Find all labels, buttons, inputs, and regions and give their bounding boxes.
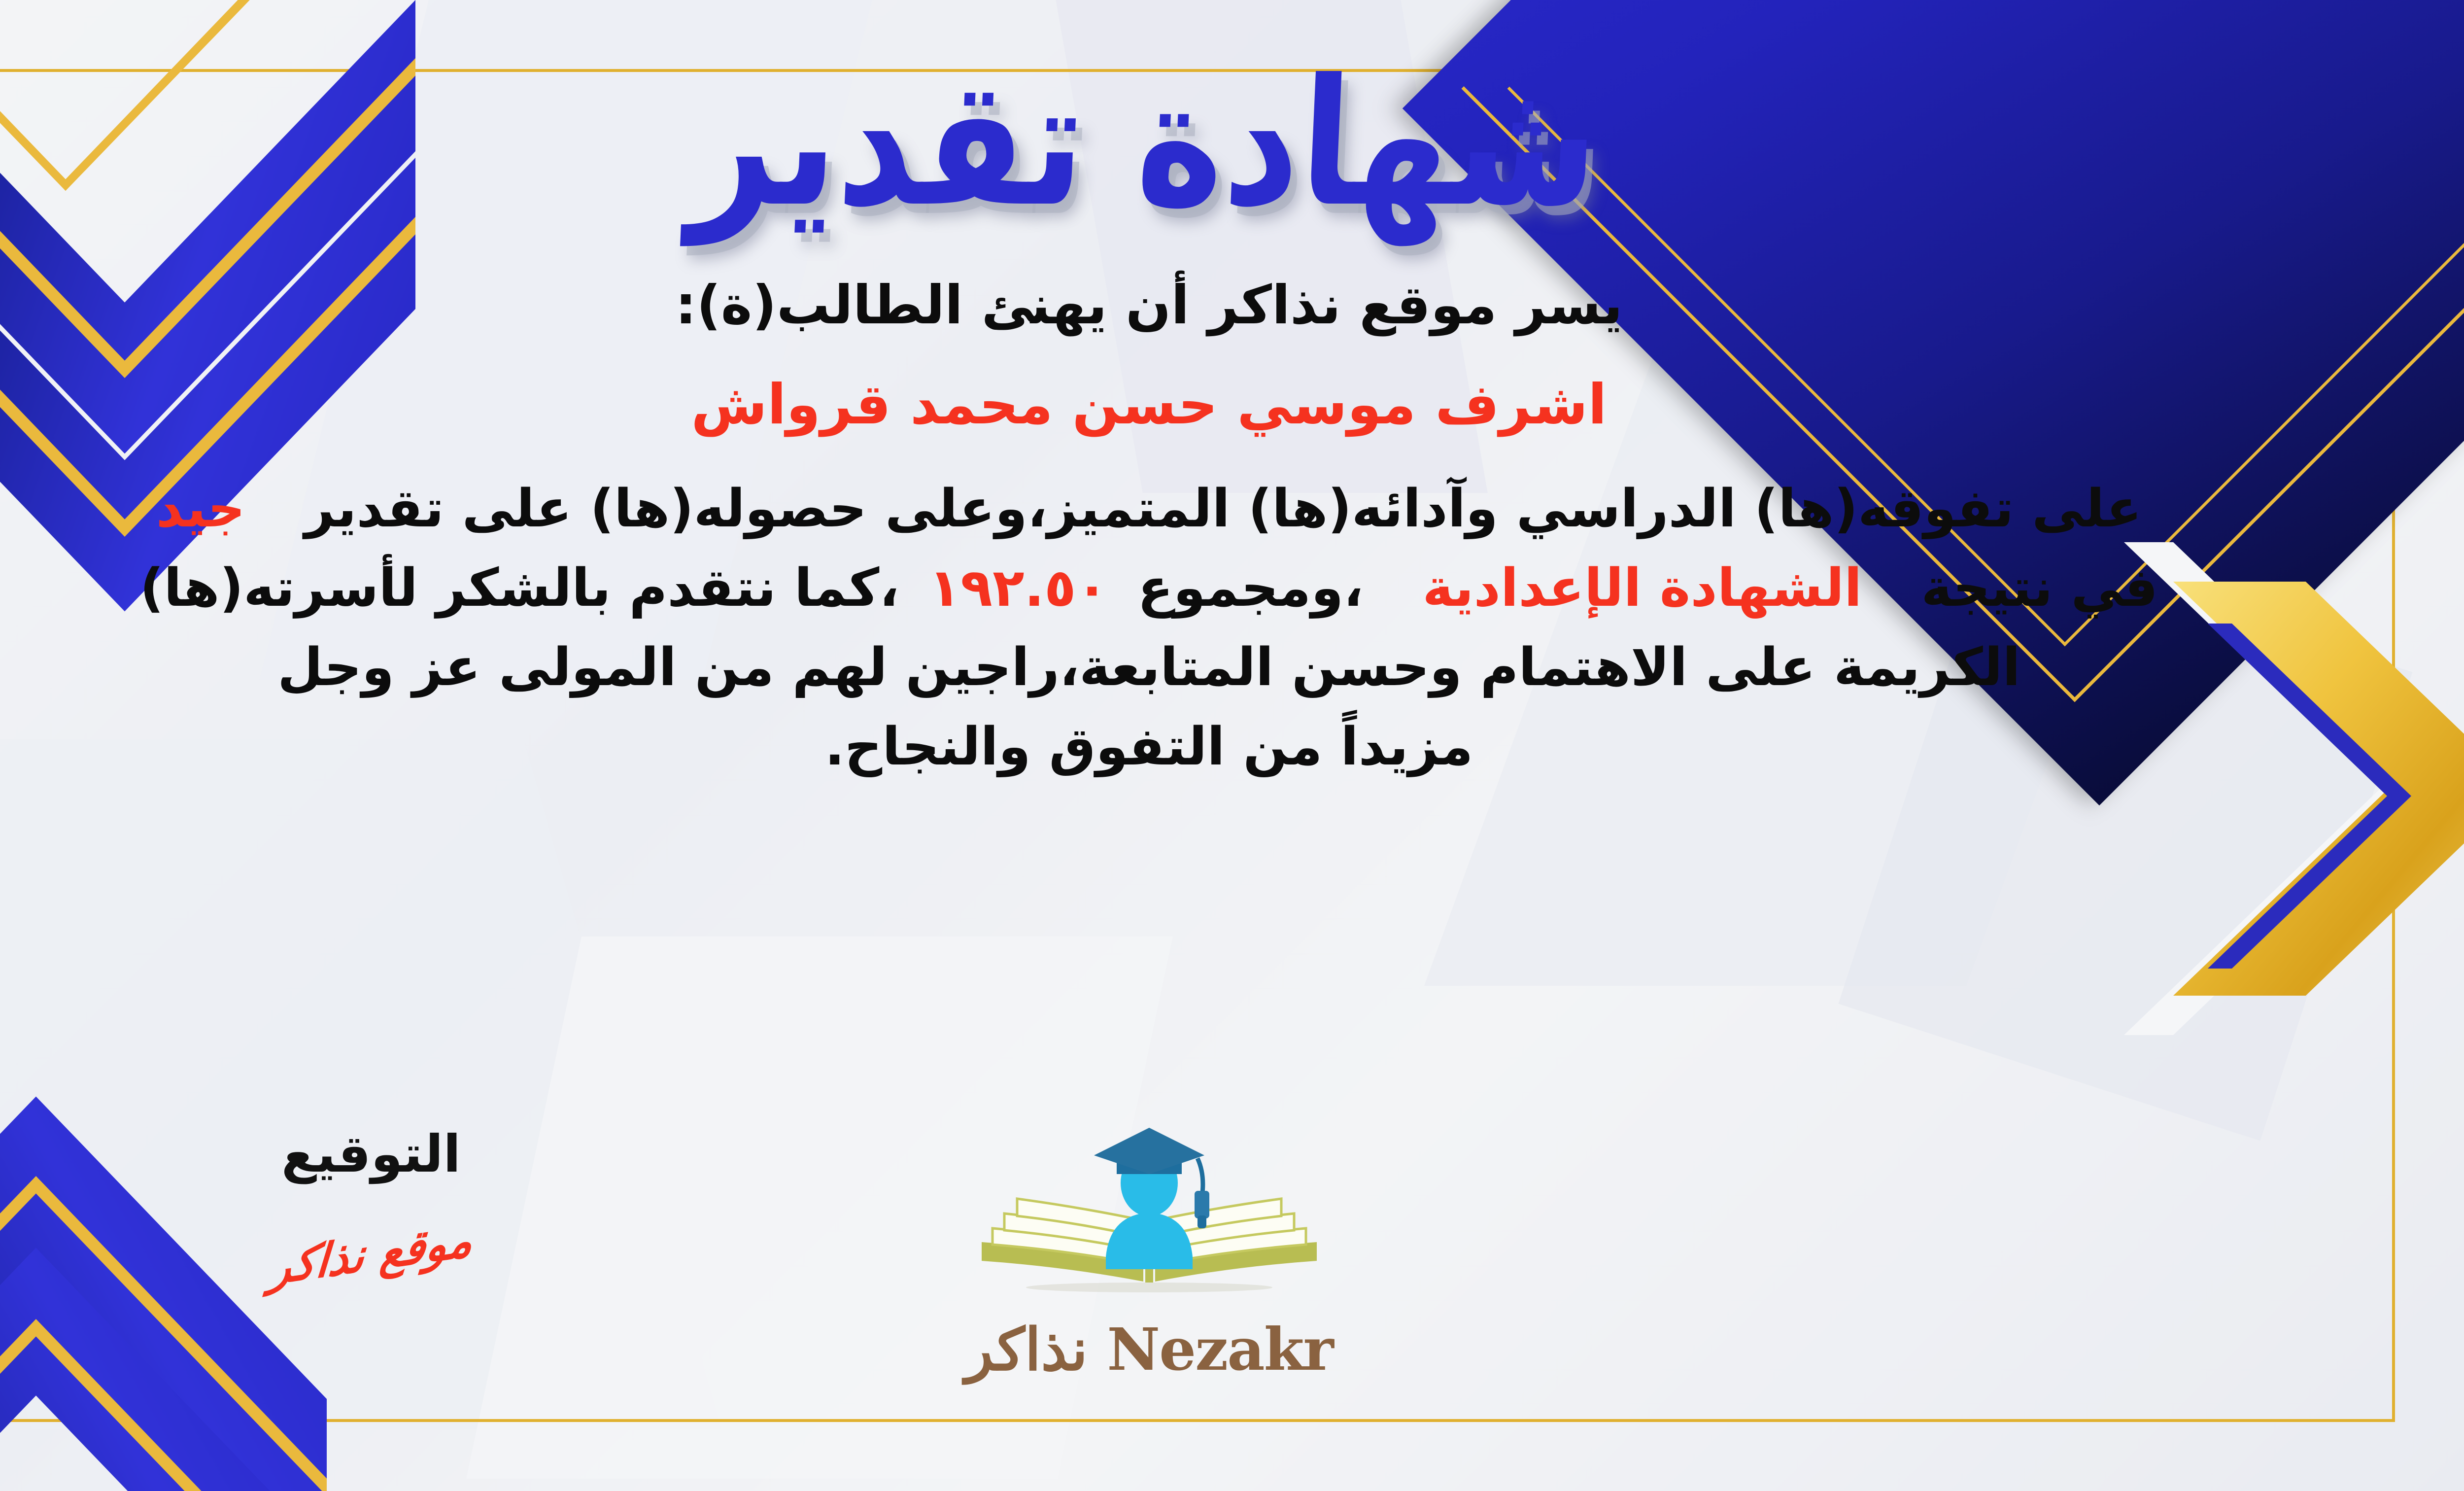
- achievement-line-3: في نتيجةالشهادة الإعدادية،ومجموع١٩٢.٥٠،ك…: [0, 548, 2357, 627]
- grade-value: جيد: [156, 478, 245, 539]
- signature-label: التوقيع: [218, 1124, 524, 1184]
- intro-line: يسر موقع نذاكر أن يهنئ الطالب(ة):: [16, 266, 2283, 345]
- thanks-text: ،كما نتقدم بالشكر لأسرته(ها): [140, 557, 899, 618]
- achievement-paragraph: على تفوقه(ها) الدراسي وآدائه(ها) المتميز…: [16, 469, 2283, 786]
- certificate-canvas: شهادة تقدير يسر موقع نذاكر أن يهنئ الطال…: [0, 0, 2464, 1491]
- result-label: في نتيجة: [1921, 557, 2158, 618]
- graduate-book-logo-icon: [962, 1119, 1336, 1316]
- achievement-line-5: مزيداً من التفوق والنجاح.: [16, 707, 2283, 786]
- achievement-text-part-1: على تفوقه(ها) الدراسي وآدائه(ها) المتميز…: [305, 478, 2142, 539]
- total-score: ١٩٢.٥٠: [929, 557, 1108, 618]
- brand-logo: Nezakr نذاكر: [962, 1119, 1336, 1384]
- certificate-title: شهادة تقدير: [687, 52, 1603, 235]
- certificate-footer: التوقيع موقع نذاكر: [0, 1124, 2464, 1439]
- exam-name: الشهادة الإعدادية: [1422, 557, 1862, 618]
- total-label: ،ومجموع: [1137, 557, 1363, 618]
- student-name: اشرف موسي حسن محمد قرواش: [16, 368, 2283, 442]
- achievement-line-4: الكريمة على الاهتمام وحسن المتابعة،راجين…: [16, 627, 2283, 707]
- logo-brand-text: Nezakr نذاكر: [962, 1315, 1336, 1384]
- signature-block: التوقيع موقع نذاكر: [218, 1124, 524, 1281]
- achievement-line-2: على تفوقه(ها) الدراسي وآدائه(ها) المتميز…: [16, 469, 2283, 548]
- signature-script: موقع نذاكر: [218, 1206, 524, 1302]
- certificate-body: يسر موقع نذاكر أن يهنئ الطالب(ة): اشرف م…: [16, 266, 2283, 786]
